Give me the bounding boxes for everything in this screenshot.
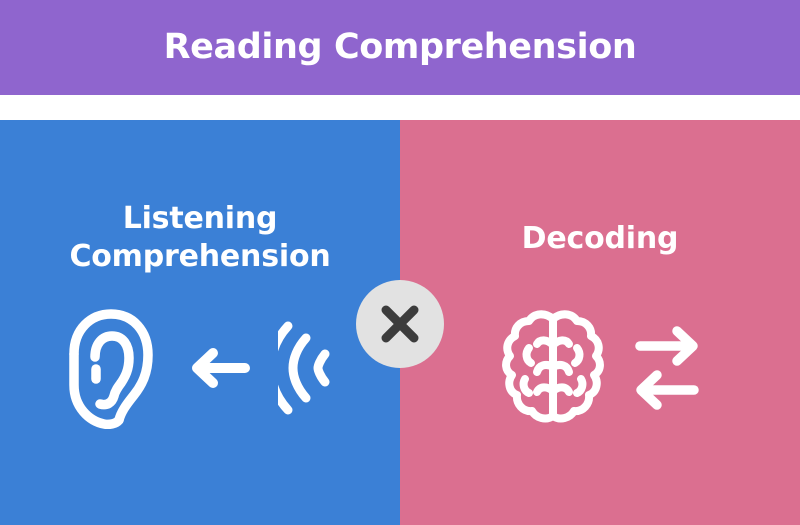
brain-icon: [501, 307, 605, 433]
panel-decoding: Decoding: [400, 120, 800, 525]
ear-icon: [60, 307, 160, 433]
reading-comprehension-infographic: Reading Comprehension Listening Comprehe…: [0, 0, 800, 525]
arrow-left-icon: [188, 347, 250, 393]
multiply-operator-badge: [356, 280, 444, 368]
multiply-icon: [378, 302, 422, 346]
decoding-icon-row: [400, 305, 800, 435]
sound-waves-icon: [278, 320, 340, 420]
panel-title-listening-line1: Listening: [123, 201, 278, 236]
panel-title-listening: Listening Comprehension: [0, 200, 400, 276]
listening-icon-row: [0, 305, 400, 435]
panel-title-listening-line2: Comprehension: [69, 239, 330, 274]
header-band: Reading Comprehension: [0, 0, 800, 95]
exchange-arrows-icon: [635, 318, 699, 422]
page-title: Reading Comprehension: [164, 30, 637, 65]
panel-title-decoding: Decoding: [400, 220, 800, 258]
panel-listening-comprehension: Listening Comprehension: [0, 120, 400, 525]
